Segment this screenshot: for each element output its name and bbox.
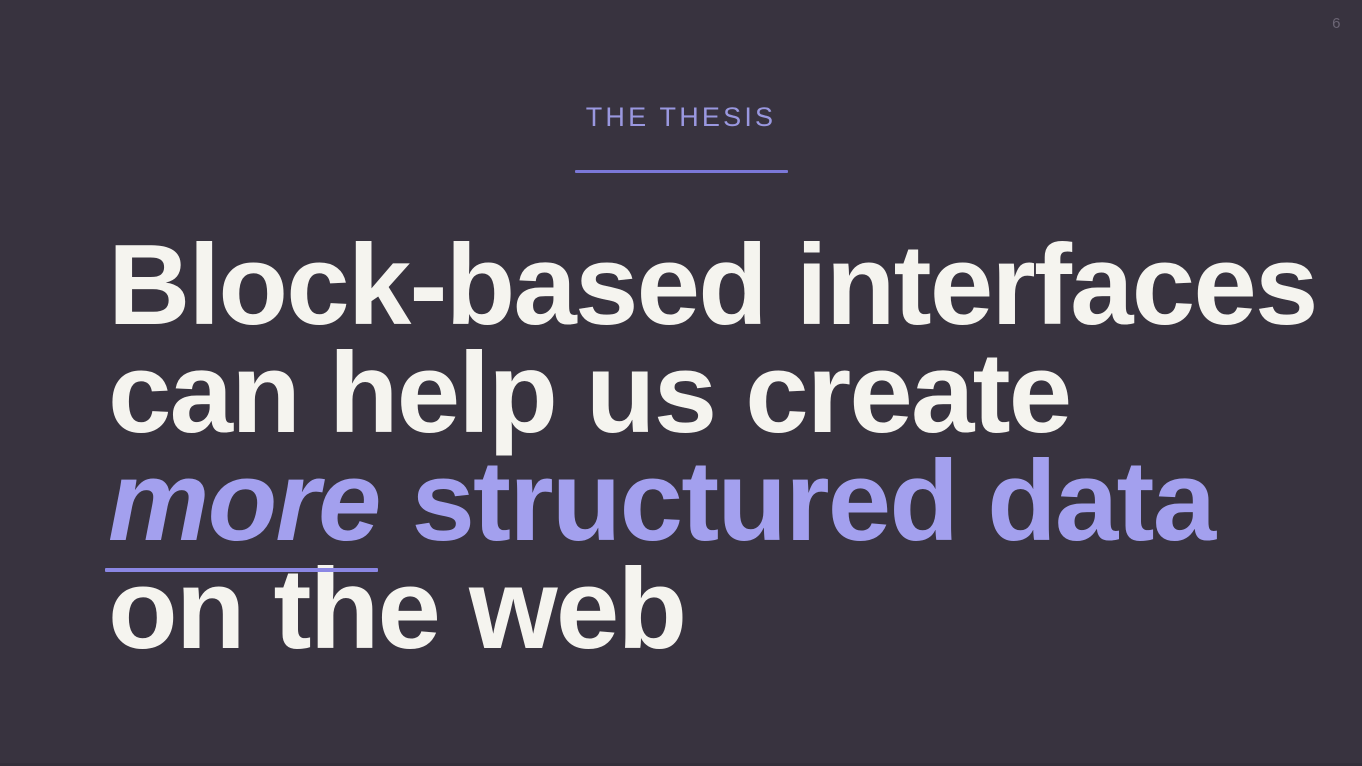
headline-line-2: can help us create: [108, 340, 1288, 448]
eyebrow-divider-rule: [575, 170, 788, 173]
headline-line-1: Block-based interfaces: [108, 232, 1288, 340]
slide-canvas: 6 THE THESIS Block-based interfaces can …: [0, 0, 1362, 766]
page-title: Block-based interfaces can help us creat…: [108, 232, 1288, 664]
headline-emphasis-more: more: [108, 448, 382, 556]
eyebrow-label: THE THESIS: [586, 104, 777, 131]
headline-line-4: on the web: [108, 556, 1288, 664]
headline-line-3: more structured data: [108, 448, 1288, 556]
page-number: 6: [1332, 16, 1341, 31]
eyebrow-section: THE THESIS: [0, 104, 1362, 173]
